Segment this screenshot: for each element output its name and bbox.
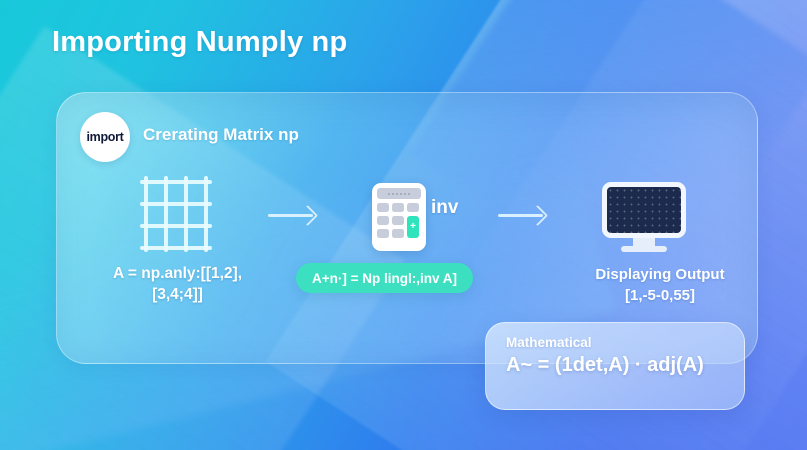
calculator-display xyxy=(377,188,421,199)
calculator-plus-key: + xyxy=(407,216,419,238)
slide-canvas: Importing Numply np import Crerating Mat… xyxy=(0,0,807,450)
calculator-key xyxy=(407,203,419,212)
mathematical-formula: A~ = (1det,A) · adj(A) xyxy=(506,354,724,377)
arrow-right-icon-2 xyxy=(498,203,550,227)
matrix-caption-line2: [3,4;4]] xyxy=(70,284,285,305)
card-heading: Crerating Matrix np xyxy=(143,125,299,145)
arrow-right-icon-1 xyxy=(268,203,320,227)
monitor-icon xyxy=(602,182,686,254)
calculator-icon: + xyxy=(372,183,426,251)
calculator-key xyxy=(377,229,389,238)
matrix-caption-line1: A = np.anly:[[1,2], xyxy=(70,263,285,284)
calculator-key xyxy=(392,203,404,212)
calculator-keys: + xyxy=(377,203,421,243)
matrix-caption: A = np.anly:[[1,2], [3,4;4]] xyxy=(70,263,285,305)
inverse-formula-pill: A+n·] = Np lingl:,inv A] xyxy=(296,263,473,293)
import-badge: import xyxy=(80,112,130,162)
mathematical-card: Mathematical A~ = (1det,A) · adj(A) xyxy=(485,322,745,410)
inv-label: inv xyxy=(431,197,458,219)
calculator-key xyxy=(392,216,404,225)
output-caption-line2: [1,-5-0,55] xyxy=(545,285,775,306)
import-badge-label: import xyxy=(86,130,123,144)
calculator-key xyxy=(377,216,389,225)
page-title: Importing Numply np xyxy=(52,26,347,59)
mathematical-label: Mathematical xyxy=(506,335,724,350)
output-caption-line1: Displaying Output xyxy=(545,264,775,285)
calculator-key xyxy=(392,229,404,238)
calculator-key xyxy=(377,203,389,212)
grid-icon xyxy=(140,176,212,252)
output-caption: Displaying Output [1,-5-0,55] xyxy=(545,264,775,306)
